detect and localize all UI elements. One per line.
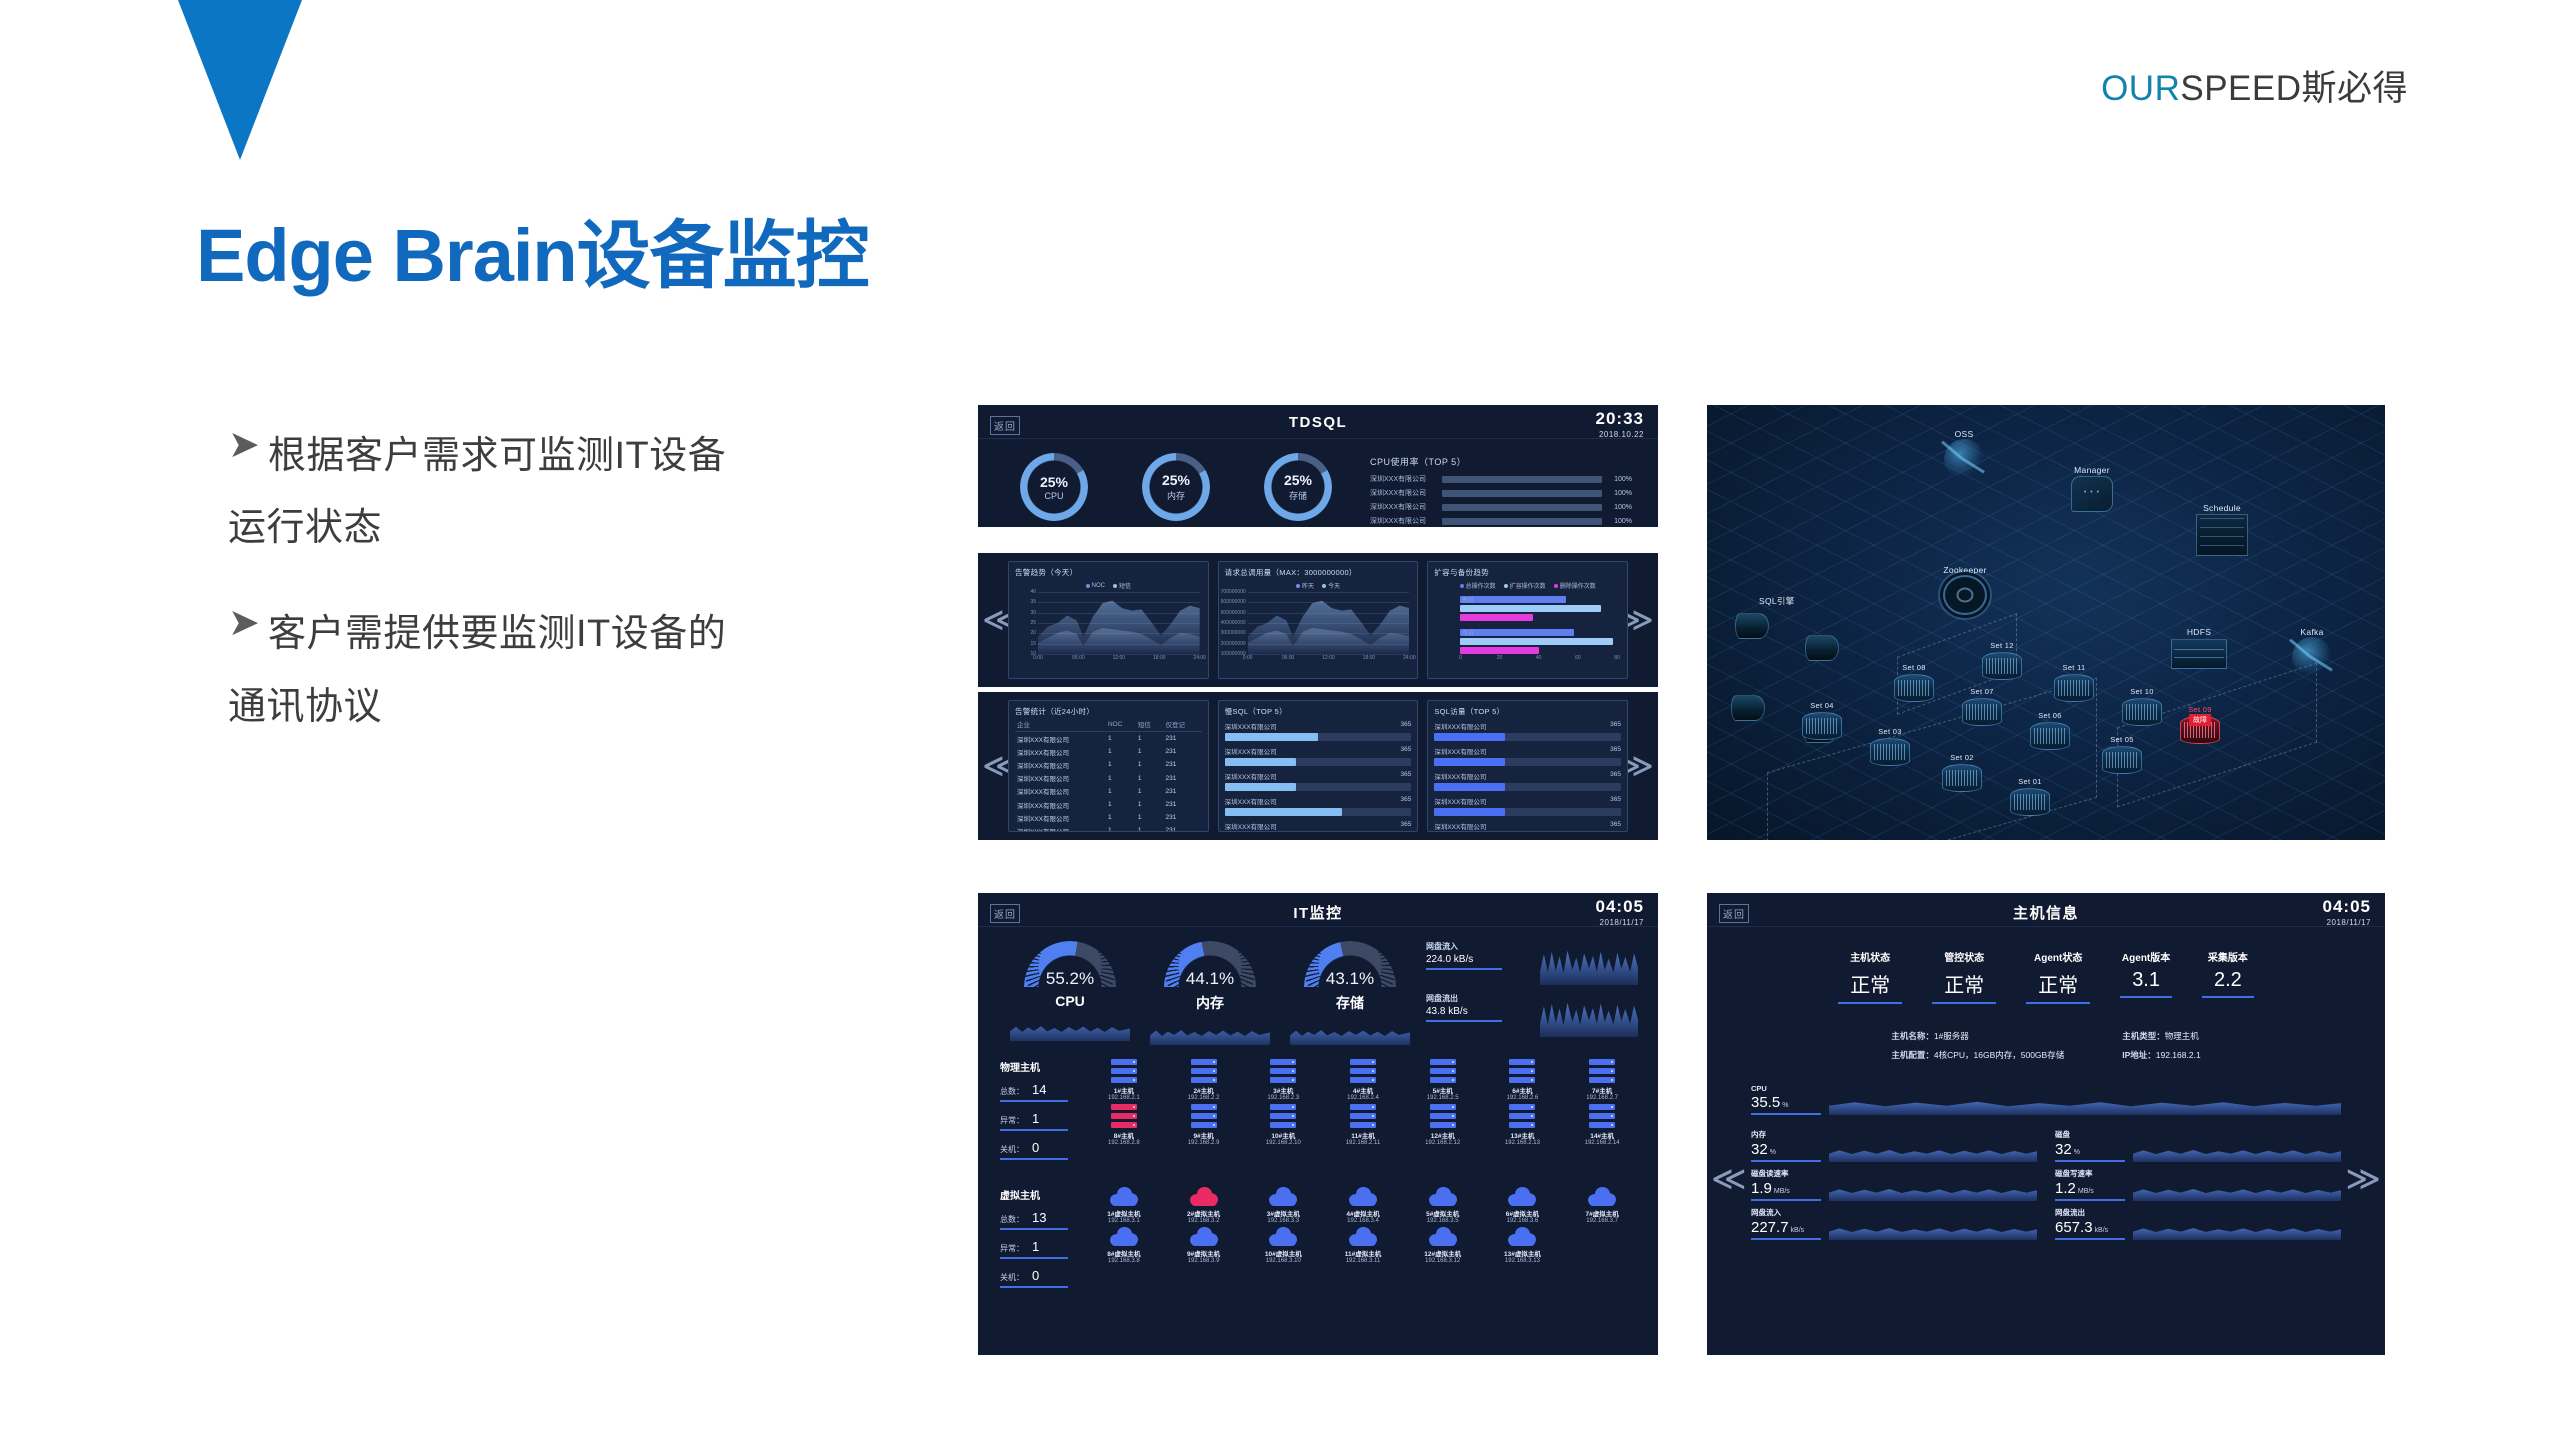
cpu-metric-row: CPU 35.5% <box>1707 1068 2385 1115</box>
host-stat-value: 13 <box>1032 1210 1046 1225</box>
card-sql-count-title: SQL访量（TOP 5） <box>1434 706 1621 717</box>
metric-磁盘: 磁盘 32% <box>2055 1129 2341 1162</box>
labelled-bar-item: 深圳XXX有限公司365 <box>1434 771 1621 791</box>
card-request-volume-title: 请求总调用量（MAX：3000000000） <box>1225 567 1412 578</box>
table-cell: 深圳XXX有限公司 <box>1015 811 1106 824</box>
hostinfo-clock: 04:05 2018/11/17 <box>2323 897 2371 928</box>
top5-value: 100% <box>1602 476 1632 483</box>
page-title: Edge Brain设备监控 <box>196 196 869 303</box>
server-icon <box>1111 1059 1137 1083</box>
manager-bubble-icon <box>2071 476 2113 512</box>
top5-company: 深圳XXX有限公司 <box>1370 488 1442 498</box>
host-ip: 192.168.2.4 <box>1325 1095 1401 1101</box>
table-cell: 231 <box>1163 785 1201 798</box>
set-label: Set 07 <box>1959 687 2005 696</box>
host-cell[interactable]: 9#主机 192.168.2.9 <box>1166 1104 1242 1146</box>
host-ip: 192.168.2.2 <box>1166 1095 1242 1101</box>
host-ip: 192.168.3.3 <box>1245 1218 1321 1224</box>
labelled-bar-name: 深圳XXX有限公司 <box>1434 746 1486 756</box>
host-stat: 异常：1 <box>1000 1239 1068 1259</box>
set-cylinder-icon: 故障 <box>2180 716 2220 744</box>
host-name: 9#主机 <box>1166 1130 1242 1140</box>
status-cell: 管控状态 正常 <box>1932 949 1996 1004</box>
set-label: Set 02 <box>1939 753 1985 762</box>
host-stat: 关机：0 <box>1000 1268 1068 1288</box>
host-cell[interactable]: 6#虚拟主机 192.168.3.6 <box>1485 1187 1561 1224</box>
set-label: Set 06 <box>2027 711 2073 720</box>
architecture-diagram: SQL引擎 OSS Zookeeper Manager Schedule HDF… <box>1707 405 2385 840</box>
table-row: 深圳XXX有限公司11231 <box>1015 772 1202 785</box>
host-cell[interactable]: 4#主机 192.168.2.4 <box>1325 1059 1401 1101</box>
next-page-icon[interactable]: ≫ <box>2345 1162 2381 1196</box>
host-cell[interactable]: 14#主机 192.168.2.14 <box>1564 1104 1640 1146</box>
host-name: 7#主机 <box>1564 1085 1640 1095</box>
host-ip: 192.168.2.12 <box>1405 1140 1481 1146</box>
itmon-title: IT监控 <box>978 902 1658 923</box>
metric-value: 1.9 <box>1751 1180 1772 1197</box>
host-cell[interactable]: 12#主机 192.168.2.12 <box>1405 1104 1481 1146</box>
node-hdfs: HDFS <box>2159 627 2239 669</box>
top5-company: 深圳XXX有限公司 <box>1370 516 1442 526</box>
host-info-right: 主机类型：物理主机 IP地址：192.168.2.1 <box>2122 1030 2200 1068</box>
status-badge-row: 主机状态 正常 管控状态 正常 Agent状态 正常 Agent版本 3.1 采… <box>1707 927 2385 1004</box>
set-label: Set 03 <box>1867 727 1913 736</box>
node-set-02: Set 02 <box>1939 753 1985 792</box>
status-value: 2.2 <box>2202 969 2254 998</box>
prev-page-icon[interactable]: ≪ <box>1711 1162 1747 1196</box>
node-kafka: Kafka <box>2277 627 2347 677</box>
legend-label: 短信 <box>1119 581 1131 590</box>
host-name: 5#主机 <box>1405 1085 1481 1095</box>
node-set-10: Set 10 <box>2119 687 2165 726</box>
node-set-11: Set 11 <box>2051 663 2097 702</box>
status-label: Agent状态 <box>2026 949 2090 964</box>
table-cell: 深圳XXX有限公司 <box>1015 732 1106 746</box>
host-cell[interactable]: 5#虚拟主机 192.168.3.5 <box>1405 1187 1481 1224</box>
labelled-bar-name: 深圳XXX有限公司 <box>1225 821 1277 831</box>
set-cylinder-icon <box>1802 712 1842 740</box>
card-alarm-trend-title: 告警趋势（今天） <box>1015 567 1202 578</box>
table-cell: 深圳XXX有限公司 <box>1015 745 1106 758</box>
host-ip: 192.168.3.13 <box>1485 1258 1561 1264</box>
host-cell[interactable]: 5#主机 192.168.2.5 <box>1405 1059 1481 1101</box>
server-icon <box>1589 1059 1615 1083</box>
network-in-label: 网盘流入 <box>1426 941 1530 952</box>
cpu-metric-value: 35.5 <box>1751 1094 1780 1111</box>
metric-sparkline <box>2133 1220 2341 1240</box>
labelled-bar-name: 深圳XXX有限公司 <box>1434 721 1486 731</box>
metric-value: 32 <box>2055 1141 2072 1158</box>
semi-gauge-storage: 43.1% 存储 <box>1280 941 1420 1045</box>
labelled-bar-value: 365 <box>1400 796 1411 806</box>
host-name: 2#主机 <box>1166 1085 1242 1095</box>
metric-unit: MB/s <box>2078 1188 2094 1195</box>
set-cylinder-icon <box>1982 652 2022 680</box>
tdsql-date: 2018.10.22 <box>1599 430 1644 439</box>
semi-gauge-cpu-label: CPU <box>1000 993 1140 1009</box>
status-value: 正常 <box>2026 969 2090 1004</box>
metric-sparkline <box>2133 1181 2341 1201</box>
cloud-icon <box>1190 1227 1218 1246</box>
table-cell: 深圳XXX有限公司 <box>1015 785 1106 798</box>
labelled-bar-value: 365 <box>1610 771 1621 781</box>
cloud-icon <box>1190 1187 1218 1206</box>
host-type-value: 物理主机 <box>2165 1031 2199 1041</box>
card-ops-trend-legend: 总操作次数 扩容操作次数 删除操作次数 <box>1434 581 1621 590</box>
set-cylinder-icon <box>2030 722 2070 750</box>
table-cell: 1 <box>1106 732 1136 746</box>
metric-磁盘读速率: 磁盘读速率 1.9MB/s <box>1751 1168 2037 1201</box>
table-cell: 1 <box>1106 785 1136 798</box>
table-cell: 1 <box>1136 824 1164 832</box>
host-name: 6#虚拟主机 <box>1485 1208 1561 1218</box>
node-manager: Manager <box>2047 465 2137 512</box>
legend-label: 今天 <box>1328 581 1340 590</box>
table-cell: 1 <box>1106 811 1136 824</box>
host-stat-label: 总数： <box>1000 1087 1024 1096</box>
host-ip: 192.168.2.3 <box>1245 1095 1321 1101</box>
bullet-list: ➤ 根据客户需求可监测IT设备 运行状态 ➤ 客户需提供要监测IT设备的 通讯协… <box>228 420 908 777</box>
table-cell: 1 <box>1106 824 1136 832</box>
tdsql-charts-row: ≪ ≫ 告警趋势（今天） NOC 短信 40353025201510 0:000… <box>978 553 1658 687</box>
table-cell: 1 <box>1106 758 1136 771</box>
host-ip: 192.168.3.8 <box>1086 1258 1162 1264</box>
status-cell: 主机状态 正常 <box>1838 949 1902 1004</box>
top5-row: 深圳XXX有限公司 100% <box>1370 488 1632 498</box>
table-header: NOC <box>1106 717 1136 732</box>
tdsql-time: 20:33 <box>1596 409 1644 428</box>
cloud-icon <box>1110 1187 1138 1206</box>
card-request-volume-legend: 昨天 今天 <box>1225 581 1412 590</box>
status-cell: Agent状态 正常 <box>2026 949 2090 1004</box>
sql-engine-drum-icon <box>1731 695 1765 721</box>
labelled-bar-item: 深圳XXX有限公司365 <box>1225 746 1412 766</box>
node-zookeeper: Zookeeper <box>1915 565 2015 615</box>
host-info-left: 主机名称：1#服务器 主机配置：4核CPU，16GB内存，500GB存储 <box>1891 1030 2064 1068</box>
host-ip: 192.168.3.6 <box>1485 1218 1561 1224</box>
card-request-volume: 请求总调用量（MAX：3000000000） 昨天 今天 70000000060… <box>1218 561 1419 679</box>
top5-company: 深圳XXX有限公司 <box>1370 474 1442 484</box>
node-set-09: Set 09 故障 <box>2177 705 2223 744</box>
host-name: 8#主机 <box>1086 1130 1162 1140</box>
status-cell: Agent版本 3.1 <box>2120 949 2172 1004</box>
host-stat: 关机：0 <box>1000 1140 1068 1160</box>
metric-label: 磁盘读速率 <box>1751 1168 1821 1179</box>
host-cell[interactable]: 6#主机 192.168.2.6 <box>1485 1059 1561 1101</box>
node-set-12: Set 12 <box>1979 641 2025 680</box>
metric-网盘流出: 网盘流出 657.3kB/s <box>2055 1207 2341 1240</box>
table-cell: 231 <box>1163 811 1201 824</box>
network-in-chart <box>1540 941 1638 985</box>
bullet-text-line1: 客户需提供要监测IT设备的 <box>268 598 726 670</box>
table-cell: 231 <box>1163 732 1201 746</box>
set-cylinder-icon <box>1894 674 1934 702</box>
set-cylinder-icon <box>2054 674 2094 702</box>
metric-label: 网盘流出 <box>2055 1207 2125 1218</box>
node-set-04: Set 04 <box>1799 701 1845 740</box>
set-cylinder-icon <box>2010 788 2050 816</box>
host-stat-label: 关机： <box>1000 1273 1024 1282</box>
gauge-cpu-value: 25% <box>1040 474 1068 490</box>
labelled-bar-name: 深圳XXX有限公司 <box>1225 796 1277 806</box>
hbar <box>1460 596 1566 603</box>
arrow-bullet-icon: ➤ <box>228 420 268 471</box>
table-cell: 1 <box>1136 732 1164 746</box>
table-cell: 1 <box>1136 758 1164 771</box>
tdsql-titlebar: 返回 TDSQL 20:33 2018.10.22 <box>978 405 1658 439</box>
table-row: 深圳XXX有限公司11231 <box>1015 824 1202 832</box>
labelled-bar-name: 深圳XXX有限公司 <box>1434 771 1486 781</box>
labelled-bar-value: 365 <box>1610 796 1621 806</box>
metric-value: 657.3 <box>2055 1219 2093 1236</box>
metric-sparkline <box>1829 1181 2037 1201</box>
alarm-trend-plot: 40353025201510 0:0006:0012:0018:0024:00 <box>1015 592 1202 666</box>
tdsql-dashboard-header: 返回 TDSQL 20:33 2018.10.22 25% CPU 16核/64… <box>978 405 1658 527</box>
host-cell[interactable]: 1#主机 192.168.2.1 <box>1086 1059 1162 1101</box>
node-oss: OSS <box>1929 429 1999 479</box>
host-ip: 192.168.2.7 <box>1564 1095 1640 1101</box>
host-name-value: 1#服务器 <box>1934 1031 1969 1041</box>
cloud-icon <box>1269 1227 1297 1246</box>
gauge-memory-value: 25% <box>1162 472 1190 488</box>
table-row: 深圳XXX有限公司11231 <box>1015 732 1202 746</box>
memory-sparkline <box>1150 1021 1270 1045</box>
metric-value: 227.7 <box>1751 1219 1789 1236</box>
host-ip: 192.168.2.11 <box>1325 1140 1401 1146</box>
set-label: Set 09 <box>2177 705 2223 714</box>
legend-label: 扩容操作次数 <box>1510 581 1546 590</box>
cpu-metric-label: CPU <box>1751 1084 1821 1093</box>
host-name: 13#主机 <box>1485 1130 1561 1140</box>
legend-label: 删除操作次数 <box>1560 581 1596 590</box>
host-name: 9#虚拟主机 <box>1166 1248 1242 1258</box>
metric-sparkline <box>1829 1220 2037 1240</box>
host-name: 11#主机 <box>1325 1130 1401 1140</box>
metric-value: 32 <box>1751 1141 1768 1158</box>
gauge-storage-label: 存储 <box>1289 489 1307 502</box>
cpu-metric-unit: % <box>1782 1102 1788 1109</box>
host-cell[interactable]: 7#虚拟主机 192.168.3.7 <box>1564 1187 1640 1224</box>
metric-label: 内存 <box>1751 1129 1821 1140</box>
table-cell: 深圳XXX有限公司 <box>1015 772 1106 785</box>
host-ip: 192.168.2.1 <box>1086 1095 1162 1101</box>
host-stat-label: 关机： <box>1000 1145 1024 1154</box>
host-ip: 192.168.3.1 <box>1086 1218 1162 1224</box>
cloud-icon <box>1349 1227 1377 1246</box>
set-label: Set 12 <box>1979 641 2025 650</box>
host-cell[interactable]: 8#虚拟主机 192.168.3.8 <box>1086 1227 1162 1264</box>
node-kafka-label: Kafka <box>2277 627 2347 637</box>
itmon-titlebar: 返回 IT监控 04:05 2018/11/17 <box>978 893 1658 927</box>
host-cell[interactable]: 11#虚拟主机 192.168.3.11 <box>1325 1227 1401 1264</box>
node-set-07: Set 07 <box>1959 687 2005 726</box>
bullet-text-line2: 运行状态 <box>228 492 908 564</box>
host-stat-label: 异常： <box>1000 1116 1024 1125</box>
gauge-storage: 25% 存储 400T/1000T <box>1252 453 1344 527</box>
table-cell: 1 <box>1136 798 1164 811</box>
status-label: 管控状态 <box>1932 949 1996 964</box>
node-zookeeper-label: Zookeeper <box>1915 565 2015 575</box>
host-cell[interactable]: 13#主机 192.168.2.13 <box>1485 1104 1561 1146</box>
table-cell: 1 <box>1136 772 1164 785</box>
table-cell: 深圳XXX有限公司 <box>1015 798 1106 811</box>
host-config-value: 4核CPU，16GB内存，500GB存储 <box>1934 1050 2064 1060</box>
set-cylinder-icon <box>1942 764 1982 792</box>
labelled-bar-item: 深圳XXX有限公司365 <box>1434 796 1621 816</box>
set-cylinder-icon <box>1962 698 2002 726</box>
node-sql-engine: SQL引擎 <box>1759 595 1795 607</box>
network-out-value: 43.8 kB/s <box>1426 1006 1502 1022</box>
cloud-icon <box>1429 1227 1457 1246</box>
host-cell[interactable]: 7#主机 192.168.2.7 <box>1564 1059 1640 1101</box>
host-name: 4#主机 <box>1325 1085 1401 1095</box>
host-ip-key: IP地址： <box>2122 1050 2156 1060</box>
host-cell[interactable]: 13#虚拟主机 192.168.3.13 <box>1485 1227 1561 1264</box>
table-cell: 1 <box>1106 745 1136 758</box>
cloud-icon <box>1429 1187 1457 1206</box>
cloud-icon <box>1349 1187 1377 1206</box>
host-name-key: 主机名称： <box>1891 1031 1934 1041</box>
host-stat-value: 0 <box>1032 1140 1039 1155</box>
server-icon <box>1270 1059 1296 1083</box>
host-ip: 192.168.3.2 <box>1166 1218 1242 1224</box>
cpu-metric-sparkline <box>1829 1093 2341 1115</box>
cloud-icon <box>1269 1187 1297 1206</box>
node-set-03: Set 03 <box>1867 727 1913 766</box>
host-cell[interactable]: 1#虚拟主机 192.168.3.1 <box>1086 1187 1162 1224</box>
status-label: Agent版本 <box>2120 949 2172 964</box>
host-ip: 192.168.3.11 <box>1325 1258 1401 1264</box>
metric-label: 网盘流入 <box>1751 1207 1821 1218</box>
legend-label: 总操作次数 <box>1466 581 1496 590</box>
node-schedule: Schedule <box>2177 503 2267 556</box>
node-oss-label: OSS <box>1929 429 1999 439</box>
semi-gauge-memory: 44.1% 内存 <box>1140 941 1280 1045</box>
host-stat: 异常：1 <box>1000 1111 1068 1131</box>
host-cell[interactable]: 3#虚拟主机 192.168.3.3 <box>1245 1187 1321 1224</box>
table-cell: 1 <box>1106 772 1136 785</box>
host-ip: 192.168.3.12 <box>1405 1258 1481 1264</box>
hbar-group: 今日 <box>1460 629 1617 654</box>
host-name: 1#虚拟主机 <box>1086 1208 1162 1218</box>
set-label: Set 01 <box>2007 777 2053 786</box>
labelled-bar-name: 深圳XXX有限公司 <box>1225 721 1277 731</box>
brand-prefix: OUR <box>2101 69 2180 108</box>
host-cell[interactable]: 2#主机 192.168.2.2 <box>1166 1059 1242 1101</box>
semi-gauge-memory-label: 内存 <box>1140 993 1280 1013</box>
bullet-item: ➤ 客户需提供要监测IT设备的 通讯协议 <box>228 598 908 742</box>
host-name: 7#虚拟主机 <box>1564 1208 1640 1218</box>
hbar <box>1460 647 1538 654</box>
labelled-bar-value: 365 <box>1610 721 1621 731</box>
host-cell[interactable]: 10#主机 192.168.2.10 <box>1245 1104 1321 1146</box>
table-cell: 1 <box>1106 798 1136 811</box>
host-name: 12#虚拟主机 <box>1405 1248 1481 1258</box>
host-cell[interactable]: 4#虚拟主机 192.168.3.4 <box>1325 1187 1401 1224</box>
gauge-cpu: 25% CPU 16核/64核 <box>1008 453 1100 527</box>
host-name: 3#主机 <box>1245 1085 1321 1095</box>
host-cell[interactable]: 3#主机 192.168.2.3 <box>1245 1059 1321 1101</box>
hbar-category: 今日 <box>1462 629 1473 637</box>
host-ip: 192.168.2.8 <box>1086 1140 1162 1146</box>
labelled-bar-item: 深圳XXX有限公司365 <box>1225 821 1412 832</box>
gauge-storage-value: 25% <box>1284 472 1312 488</box>
labelled-bar-name: 深圳XXX有限公司 <box>1434 796 1486 806</box>
host-cell[interactable]: 12#虚拟主机 192.168.3.12 <box>1405 1227 1481 1264</box>
host-ip: 192.168.2.9 <box>1166 1140 1242 1146</box>
set-label: Set 11 <box>2051 663 2097 672</box>
cloud-icon <box>1110 1227 1138 1246</box>
server-icon <box>1589 1104 1615 1128</box>
node-set-08: Set 08 <box>1891 663 1937 702</box>
alarm-statistics-table: 企业NOC短信仅登记 深圳XXX有限公司11231深圳XXX有限公司11231深… <box>1015 717 1202 832</box>
host-cell[interactable]: 8#主机 192.168.2.8 <box>1086 1104 1162 1146</box>
network-out-label: 网盘流出 <box>1426 993 1530 1004</box>
server-icon <box>1430 1104 1456 1128</box>
node-set-06: Set 06 <box>2027 711 2073 750</box>
host-cell[interactable]: 10#虚拟主机 192.168.3.10 <box>1245 1227 1321 1264</box>
server-icon <box>1111 1104 1137 1128</box>
sql-engine-drum-icon <box>1805 635 1839 661</box>
gauge-cpu-label: CPU <box>1044 491 1063 501</box>
host-type-key: 主机类型： <box>2122 1031 2165 1041</box>
top5-row: 深圳XXX有限公司 100% <box>1370 474 1632 484</box>
host-cell[interactable]: 11#主机 192.168.2.11 <box>1325 1104 1401 1146</box>
metric-label: 磁盘 <box>2055 1129 2125 1140</box>
oss-cluster-icon <box>1944 439 1984 479</box>
card-alarm-table: 告警统计（近24小时） 企业NOC短信仅登记 深圳XXX有限公司11231深圳X… <box>1008 700 1209 832</box>
host-name: 2#虚拟主机 <box>1166 1208 1242 1218</box>
table-cell: 1 <box>1136 811 1164 824</box>
arrow-bullet-icon: ➤ <box>228 598 268 649</box>
set-label: Set 10 <box>2119 687 2165 696</box>
card-alarm-table-title: 告警统计（近24小时） <box>1015 706 1202 717</box>
server-icon <box>1350 1059 1376 1083</box>
network-out-chart <box>1540 993 1638 1037</box>
node-sql-engine-label: SQL引擎 <box>1759 595 1795 607</box>
host-ip: 192.168.2.13 <box>1485 1140 1561 1146</box>
metric-label: 磁盘写速率 <box>2055 1168 2125 1179</box>
labelled-bar-value: 365 <box>1610 821 1621 831</box>
host-ip: 192.168.2.14 <box>1564 1140 1640 1146</box>
host-cell[interactable]: 2#虚拟主机 192.168.3.2 <box>1166 1187 1242 1224</box>
host-stat: 总数：13 <box>1000 1210 1068 1230</box>
host-stat-label: 异常： <box>1000 1244 1024 1253</box>
table-cell: 231 <box>1163 824 1201 832</box>
host-stat: 总数：14 <box>1000 1082 1068 1102</box>
itmon-clock: 04:05 2018/11/17 <box>1596 897 1644 928</box>
network-in-block: 网盘流入 224.0 kB/s <box>1426 941 1530 970</box>
set-label: Set 04 <box>1799 701 1845 710</box>
server-icon <box>1509 1104 1535 1128</box>
set-cylinder-icon <box>2122 698 2162 726</box>
hostinfo-date: 2018/11/17 <box>2327 918 2371 927</box>
bullet-text-line2: 通讯协议 <box>228 671 908 743</box>
labelled-bar-value: 365 <box>1400 821 1411 831</box>
semi-gauge-storage-label: 存储 <box>1280 993 1420 1013</box>
node-schedule-label: Schedule <box>2177 503 2267 513</box>
it-monitoring-dashboard: 返回 IT监控 04:05 2018/11/17 55.2% CPU 44.1%… <box>978 893 1658 1355</box>
hostinfo-time: 04:05 <box>2323 897 2371 916</box>
host-cell[interactable]: 9#虚拟主机 192.168.3.9 <box>1166 1227 1242 1264</box>
host-ip: 192.168.3.5 <box>1405 1218 1481 1224</box>
card-slow-sql-title: 慢SQL（TOP 5） <box>1225 706 1412 717</box>
metric-sparkline <box>2133 1142 2341 1162</box>
metric-unit: % <box>2074 1149 2080 1156</box>
fault-badge: 故障 <box>2189 714 2211 726</box>
labelled-bar-value: 365 <box>1400 721 1411 731</box>
host-ip: 192.168.3.7 <box>1564 1218 1640 1224</box>
